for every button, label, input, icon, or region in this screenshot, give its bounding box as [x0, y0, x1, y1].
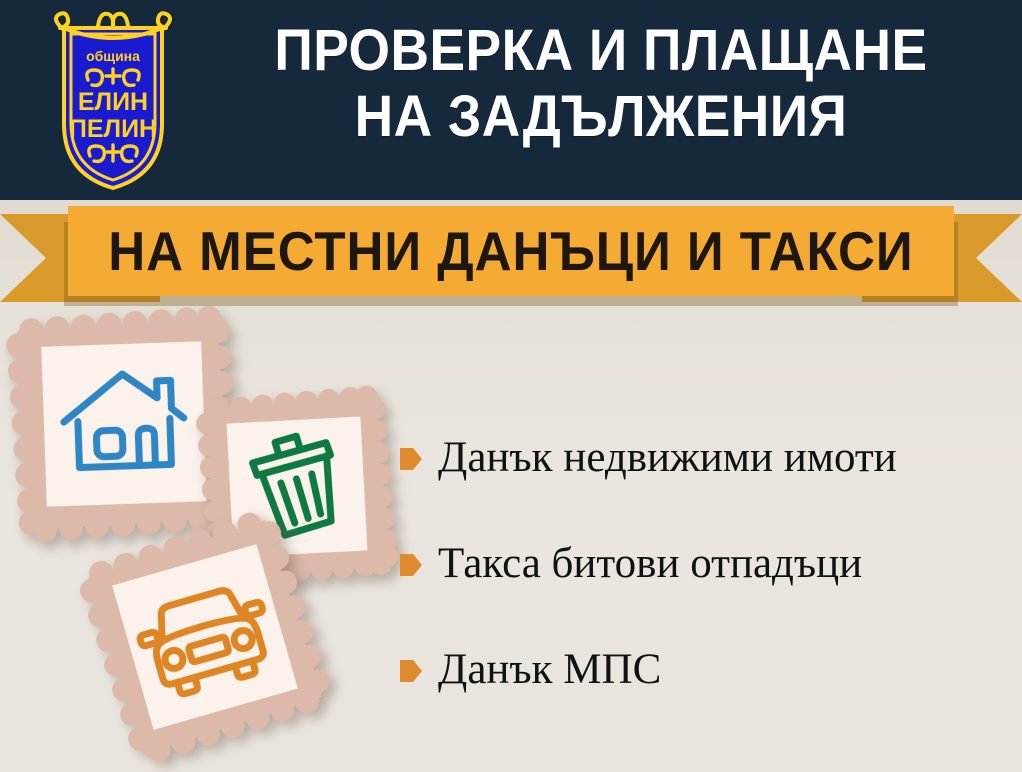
- ribbon-main-panel: НА МЕСТНИ ДАНЪЦИ И ТАКСИ: [68, 206, 954, 296]
- crest-name-line2: ПЕЛИН: [69, 115, 157, 143]
- crest-top-label: община: [86, 48, 140, 64]
- ribbon-subtitle: НА МЕСТНИ ДАНЪЦИ И ТАКСИ: [108, 222, 913, 280]
- page-title-line2: НА ЗАДЪЛЖЕНИЯ: [227, 84, 974, 150]
- list-item-label: Данък МПС: [438, 645, 661, 695]
- poster-canvas: община ЕЛИН ПЕЛИН ПРОВЕРКА И ПЛ: [0, 0, 1022, 772]
- page-title: ПРОВЕРКА И ПЛАЩАНЕ НА ЗАДЪЛЖЕНИЯ: [227, 18, 974, 150]
- ribbon-banner: НА МЕСТНИ ДАНЪЦИ И ТАКСИ: [0, 200, 1022, 310]
- list-item[interactable]: Данък МПС: [400, 642, 1010, 698]
- municipality-crest-logo: община ЕЛИН ПЕЛИН: [38, 6, 188, 196]
- list-item-label: Данък недвижими имоти: [438, 433, 897, 483]
- page-title-line1: ПРОВЕРКА И ПЛАЩАНЕ: [227, 18, 974, 84]
- arrow-bullet-icon: [400, 658, 422, 684]
- arrow-bullet-icon: [400, 446, 422, 472]
- list-item-label: Такса битови отпадъци: [438, 539, 862, 589]
- header-bar: община ЕЛИН ПЕЛИН ПРОВЕРКА И ПЛ: [0, 0, 1022, 200]
- crest-name-line1: ЕЛИН: [78, 88, 148, 116]
- services-list: Данък недвижими имоти Такса битови отпад…: [400, 430, 1010, 748]
- arrow-bullet-icon: [400, 552, 422, 578]
- list-item[interactable]: Данък недвижими имоти: [400, 430, 1010, 486]
- list-item[interactable]: Такса битови отпадъци: [400, 536, 1010, 592]
